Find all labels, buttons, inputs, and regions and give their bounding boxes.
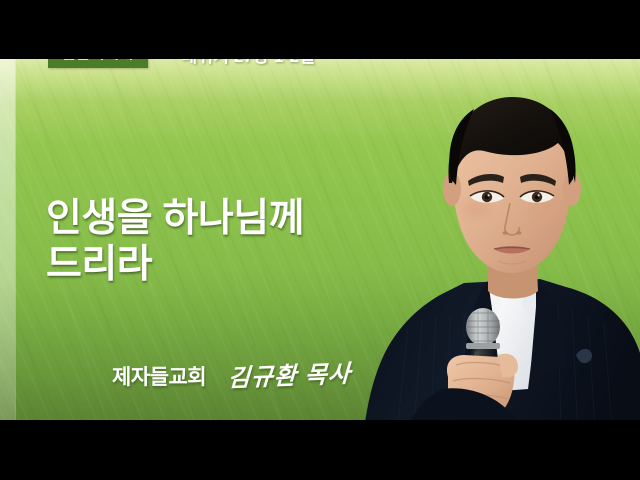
speaker-name: 김규환 목사 — [227, 354, 352, 394]
letterbox-bottom — [0, 420, 640, 480]
sermon-title-line-2: 드리라 — [46, 242, 304, 288]
speaker-portrait — [352, 59, 640, 480]
sermon-title: 인생을 하나님께 드리라 — [46, 196, 304, 287]
letterbox-top — [0, 0, 640, 59]
church-name: 제자들교회 — [112, 361, 206, 391]
sermon-title-line-1: 인생을 하나님께 — [46, 196, 304, 242]
video-thumbnail: 젊은이예배 레위기 27장 1-2절 인생을 하나님께 드리라 제자들교회 김규… — [0, 0, 640, 480]
credits: 제자들교회 김규환 목사 — [112, 356, 351, 391]
